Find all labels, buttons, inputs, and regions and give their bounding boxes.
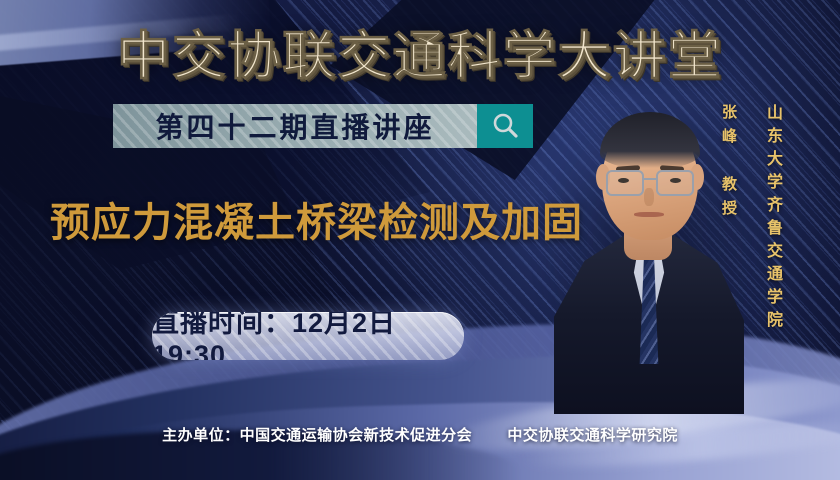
search-icon xyxy=(490,111,520,141)
eyeglass-lens-left xyxy=(606,170,644,196)
organizer-primary: 主办单位：中国交通运输协会新技术促进分会 xyxy=(162,427,472,444)
speaker-organization: 山东大学齐鲁交通学院 xyxy=(760,104,784,334)
portrait-nose xyxy=(644,188,654,206)
episode-bar-body: 第四十二期直播讲座 xyxy=(113,104,477,148)
organizer-secondary: 中交协联交通科学研究院 xyxy=(507,427,678,444)
speaker-name-title: 张峰 教授 xyxy=(718,104,739,224)
portrait-mouth xyxy=(634,212,664,217)
episode-label: 第四十二期直播讲座 xyxy=(155,106,434,146)
lecture-title: 预应力混凝土桥梁检测及加固 xyxy=(50,190,583,248)
live-lecture-poster: 中交协联交通科学大讲堂 第四十二期直播讲座 预应力混凝土桥梁检测及加固 直播时间… xyxy=(0,0,840,480)
live-time-badge: 直播时间：12月2日19:30 xyxy=(152,312,464,360)
organizer-footer: 主办单位：中国交通运输协会新技术促进分会 中交协联交通科学研究院 xyxy=(0,424,840,445)
live-time-label: 直播时间：12月2日19:30 xyxy=(152,312,464,360)
episode-bar: 第四十二期直播讲座 xyxy=(113,104,533,148)
eyeglass-lens-right xyxy=(656,170,694,196)
page-title: 中交协联交通科学大讲堂 xyxy=(0,14,840,89)
search-button[interactable] xyxy=(477,104,533,148)
